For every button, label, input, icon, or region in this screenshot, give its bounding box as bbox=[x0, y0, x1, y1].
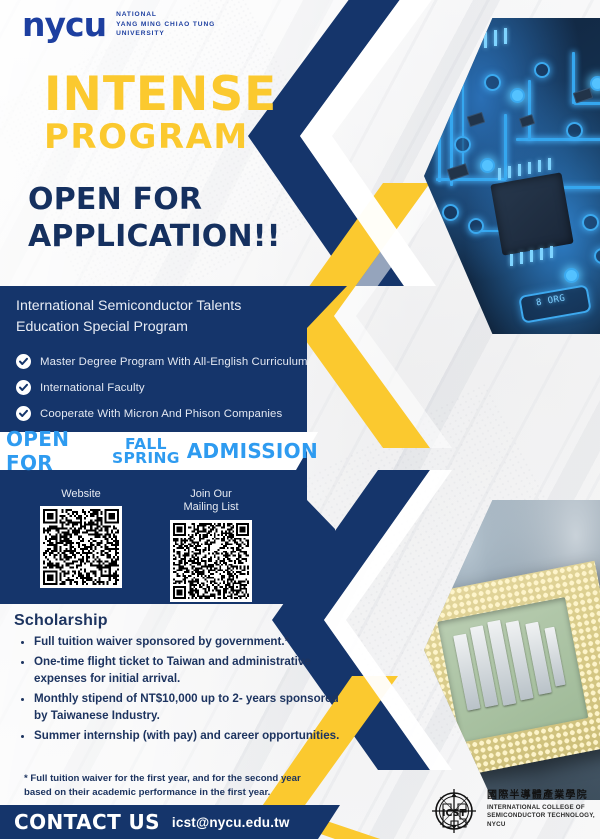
svg-text:ICST: ICST bbox=[442, 808, 467, 819]
admission-banner: OPEN FOR FALL SPRING ADMISSION bbox=[0, 432, 318, 470]
program-title-line-1: International Semiconductor Talents bbox=[16, 296, 316, 317]
icst-logo: ICST 國際半導體產業學院 INTERNATIONAL COLLEGE OF … bbox=[428, 784, 595, 836]
admission-suffix: ADMISSION bbox=[187, 439, 318, 463]
check-circle-icon bbox=[16, 380, 31, 395]
admission-season-spring: SPRING bbox=[112, 451, 180, 465]
scholarship-heading: Scholarship bbox=[14, 612, 108, 630]
qr-caption-website-line-1: Website bbox=[61, 488, 101, 501]
program-feature-1-label: Master Degree Program With All-English C… bbox=[40, 356, 308, 368]
check-circle-icon bbox=[16, 406, 31, 421]
contact-label: CONTACT US bbox=[14, 810, 160, 834]
headline: INTENSE PROGRAM bbox=[44, 72, 277, 157]
icst-name-english-line-3: NYCU bbox=[487, 821, 595, 830]
headline-intense: INTENSE bbox=[44, 72, 277, 117]
scholarship-footnote: * Full tuition waiver for the first year… bbox=[24, 772, 326, 800]
scholarship-list: Full tuition waiver sponsored by governm… bbox=[14, 634, 344, 749]
scholarship-item: Monthly stipend of NT$10,000 up to 2- ye… bbox=[34, 691, 344, 724]
qr-caption-mailing-list: Join Our Mailing List bbox=[183, 488, 238, 515]
qr-caption-mailing-list-line-1: Join Our bbox=[183, 488, 238, 501]
admission-seasons: FALL SPRING bbox=[112, 437, 180, 466]
program-title: International Semiconductor Talents Educ… bbox=[16, 296, 316, 337]
icst-name-english: INTERNATIONAL COLLEGE OF SEMICONDUCTOR T… bbox=[487, 804, 595, 830]
nycu-name-line-3: UNIVERSITY bbox=[116, 29, 215, 39]
cpu-photo bbox=[424, 500, 600, 800]
cpu-photo-frame bbox=[424, 500, 600, 800]
qr-block-mailing-list: Join Our Mailing List bbox=[170, 488, 252, 602]
icst-name-chinese: 國際半導體產業學院 bbox=[487, 790, 595, 803]
subheadline-line-1: OPEN FOR bbox=[28, 182, 281, 219]
icst-name-english-line-2: SEMICONDUCTOR TECHNOLOGY, bbox=[487, 812, 595, 821]
qr-code-website[interactable] bbox=[40, 506, 122, 588]
program-feature-1: Master Degree Program With All-English C… bbox=[16, 354, 308, 369]
program-feature-3: Cooperate With Micron And Phison Compani… bbox=[16, 406, 282, 421]
program-feature-2: International Faculty bbox=[16, 380, 145, 395]
nycu-logo: nycu NATIONAL YANG MING CHIAO TUNG UNIVE… bbox=[22, 8, 215, 41]
qr-caption-website: Website bbox=[61, 488, 101, 501]
check-circle-icon bbox=[16, 354, 31, 369]
contact-email[interactable]: icst@nycu.edu.tw bbox=[172, 815, 290, 830]
scholarship-item: Summer internship (with pay) and career … bbox=[34, 728, 344, 744]
subheadline-line-2: APPLICATION!! bbox=[28, 219, 281, 256]
qr-caption-mailing-list-line-2: Mailing List bbox=[183, 501, 238, 514]
nycu-wordmark: nycu bbox=[22, 8, 106, 41]
nycu-name-line-1: NATIONAL bbox=[116, 10, 215, 20]
poster-root: 8 ORG bbox=[0, 0, 600, 839]
nycu-full-name: NATIONAL YANG MING CHIAO TUNG UNIVERSITY bbox=[116, 10, 215, 40]
admission-prefix: OPEN FOR bbox=[6, 427, 105, 475]
circuit-board-photo-frame: 8 ORG bbox=[424, 18, 600, 334]
headline-program: PROGRAM bbox=[44, 119, 277, 156]
scholarship-item: One-time flight ticket to Taiwan and adm… bbox=[34, 654, 344, 687]
program-title-line-2: Education Special Program bbox=[16, 317, 316, 338]
icst-emblem-icon: ICST bbox=[428, 784, 480, 836]
scholarship-item: Full tuition waiver sponsored by governm… bbox=[34, 634, 344, 650]
program-feature-3-label: Cooperate With Micron And Phison Compani… bbox=[40, 408, 282, 420]
qr-block-website: Website bbox=[40, 488, 122, 588]
nycu-name-line-2: YANG MING CHIAO TUNG bbox=[116, 20, 215, 30]
icst-name-english-line-1: INTERNATIONAL COLLEGE OF bbox=[487, 804, 595, 813]
contact-bar: CONTACT US icst@nycu.edu.tw bbox=[14, 805, 290, 839]
subheadline: OPEN FOR APPLICATION!! bbox=[28, 182, 281, 255]
cpu-die bbox=[424, 561, 600, 781]
icst-name: 國際半導體產業學院 INTERNATIONAL COLLEGE OF SEMIC… bbox=[487, 790, 595, 830]
qr-code-mailing-list[interactable] bbox=[170, 520, 252, 602]
circuit-board-photo: 8 ORG bbox=[424, 18, 600, 334]
program-feature-2-label: International Faculty bbox=[40, 382, 145, 394]
